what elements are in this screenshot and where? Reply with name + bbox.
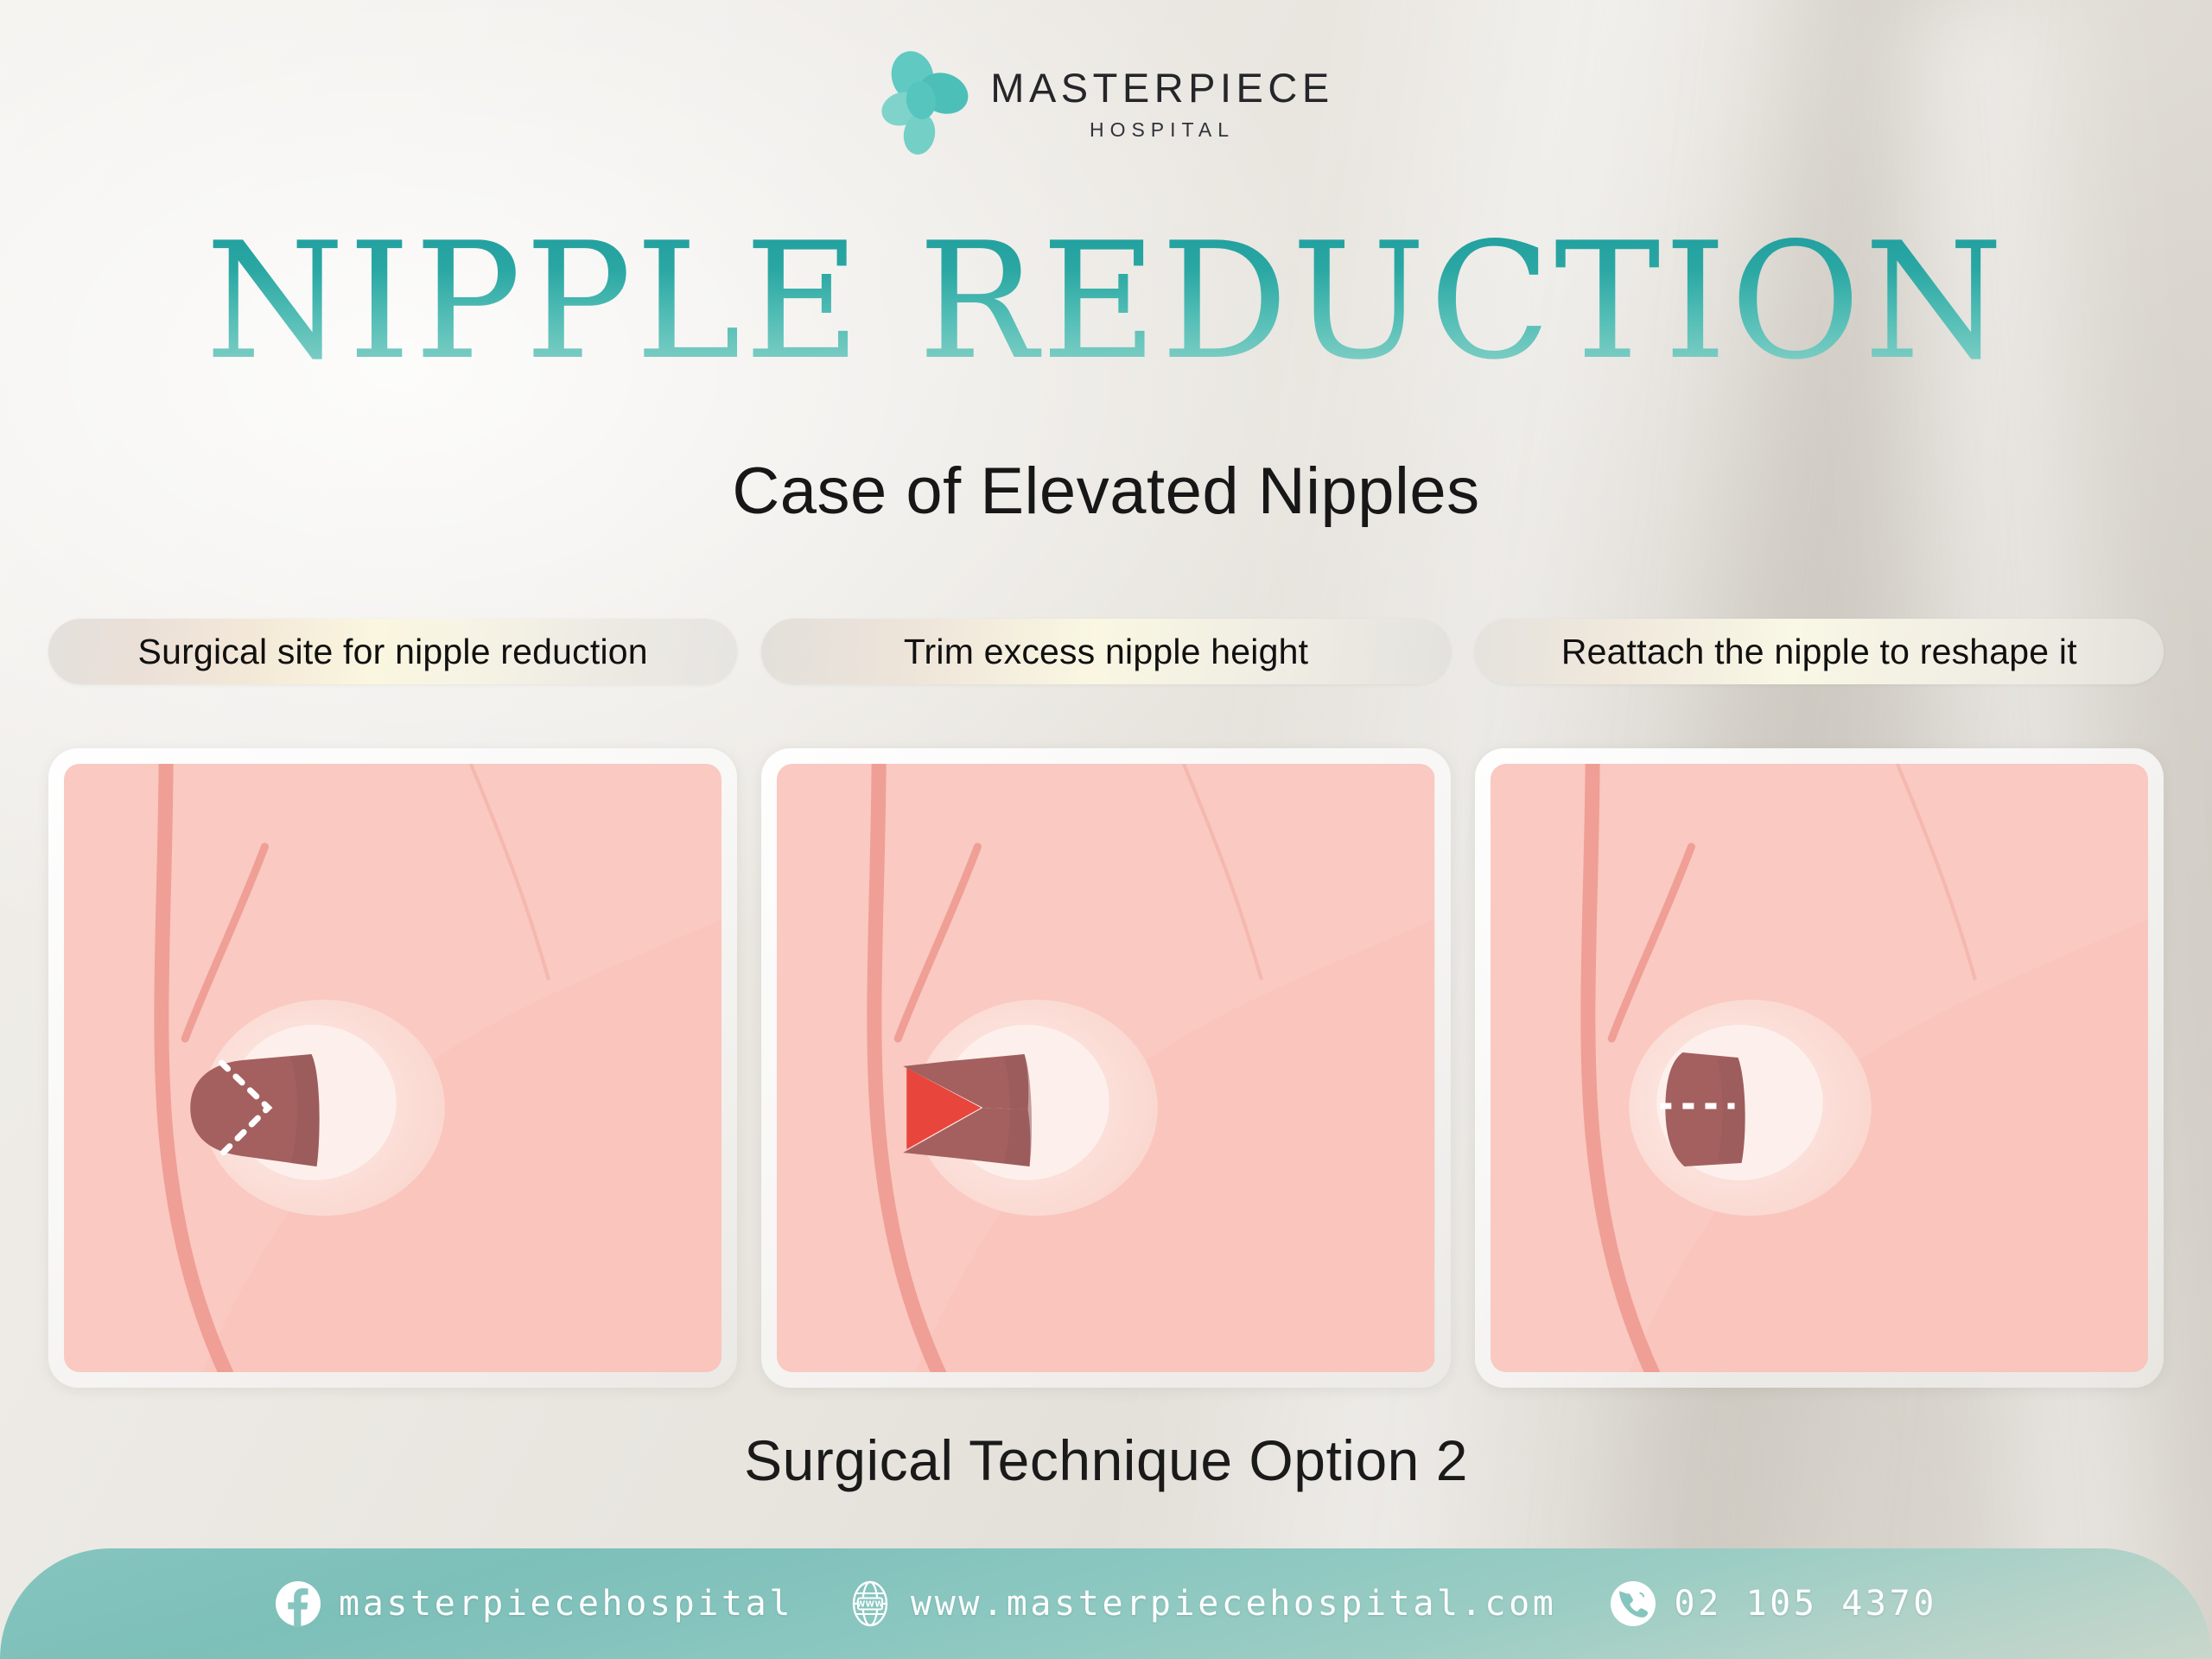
step-caption-3: Reattach the nipple to reshape it bbox=[1475, 619, 2164, 684]
breast-nipple-wedge-excised-illustration bbox=[777, 764, 1434, 1372]
illustration-card-1 bbox=[48, 748, 737, 1388]
brand-name: MASTERPIECE bbox=[990, 64, 1333, 111]
page-title: NIPPLE REDUCTION bbox=[11, 221, 2201, 382]
contact-footer: masterpiecehospital WWW www.masterpieceh… bbox=[0, 1548, 2212, 1659]
illustration-card-2 bbox=[761, 748, 1450, 1388]
breast-nipple-marked-incision-illustration bbox=[64, 764, 721, 1372]
globe-www-icon: WWW bbox=[847, 1580, 893, 1627]
brand-wordmark: MASTERPIECE HOSPITAL bbox=[990, 64, 1333, 142]
footer-facebook-handle: masterpiecehospital bbox=[339, 1584, 793, 1624]
step-caption-2: Trim excess nipple height bbox=[761, 619, 1450, 684]
breast-nipple-reattached-illustration bbox=[1491, 764, 2148, 1372]
footer-phone[interactable]: 02 105 4370 bbox=[1610, 1580, 1937, 1627]
footer-phone-number: 02 105 4370 bbox=[1674, 1584, 1937, 1624]
footer-website[interactable]: WWW www.masterpiecehospital.com bbox=[847, 1580, 1556, 1627]
facebook-icon bbox=[275, 1580, 321, 1627]
step-caption-1: Surgical site for nipple reduction bbox=[48, 619, 737, 684]
illustration-card-row bbox=[48, 748, 2164, 1388]
step-caption-row: Surgical site for nipple reduction Trim … bbox=[48, 619, 2164, 684]
step-caption-label: Trim excess nipple height bbox=[904, 632, 1308, 672]
svg-text:WWW: WWW bbox=[856, 1599, 884, 1609]
brand-logo: MASTERPIECE HOSPITAL bbox=[0, 50, 2212, 156]
page-subtitle: Case of Elevated Nipples bbox=[0, 454, 2212, 529]
phone-icon bbox=[1610, 1580, 1656, 1627]
footer-website-url: www.masterpiecehospital.com bbox=[911, 1584, 1556, 1624]
butterfly-logo-icon bbox=[878, 50, 975, 156]
footer-facebook[interactable]: masterpiecehospital bbox=[275, 1580, 793, 1627]
step-caption-label: Reattach the nipple to reshape it bbox=[1561, 632, 2077, 672]
illustration-card-3 bbox=[1475, 748, 2164, 1388]
step-caption-label: Surgical site for nipple reduction bbox=[138, 632, 648, 672]
brand-subname: HOSPITAL bbox=[1090, 118, 1235, 142]
technique-note: Surgical Technique Option 2 bbox=[0, 1427, 2212, 1493]
